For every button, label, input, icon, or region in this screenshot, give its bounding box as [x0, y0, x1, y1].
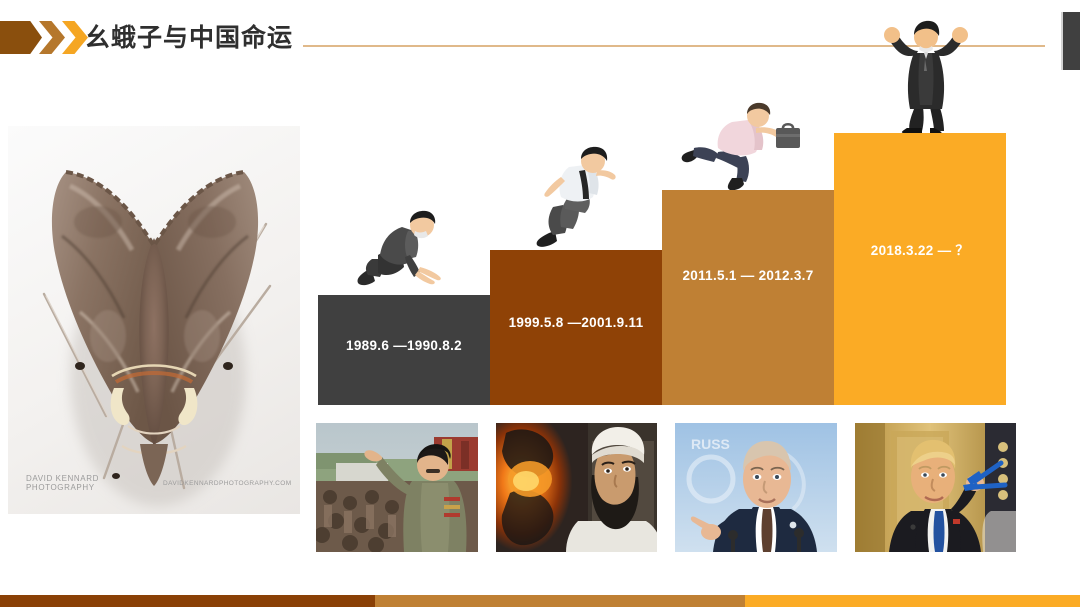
chart-bar: 1999.5.8 —2001.9.11	[490, 250, 662, 405]
moth-illustration	[8, 126, 300, 514]
photo-saddam-hussein	[316, 423, 478, 552]
triple-chevron-icon	[0, 21, 88, 54]
photo-donald-trump	[855, 423, 1017, 552]
footer-segment	[375, 595, 745, 607]
photo-strip: RUSS	[316, 423, 1016, 552]
running-man-briefcase-figure	[680, 98, 802, 190]
chart-bar-label: 1999.5.8 —2001.9.11	[490, 315, 662, 330]
footer-accent-bars	[0, 595, 1080, 607]
corner-accent-tab	[1061, 12, 1080, 70]
photo-watermark-brand: DAVID KENNARD PHOTOGRAPHY	[26, 474, 99, 492]
photo-osama-bin-laden	[496, 423, 658, 552]
chart-bar-label: 1989.6 —1990.8.2	[318, 338, 490, 353]
footer-segment	[745, 595, 1080, 607]
crouching-businessman-figure	[348, 205, 452, 295]
svg-text:RUSS: RUSS	[691, 436, 730, 452]
page-title: 幺蛾子与中国命运	[85, 18, 293, 54]
chart-bar: 1989.6 —1990.8.2	[318, 295, 490, 405]
chart-bar: 2018.3.22 — ？	[834, 133, 1006, 405]
moth-photo: DAVID KENNARD PHOTOGRAPHY DAVIDKENNARDPH…	[8, 126, 300, 514]
title-divider	[303, 45, 1045, 47]
chart-bar-label: 2011.5.1 — 2012.3.7	[662, 268, 834, 283]
photo-watermark-url: DAVIDKENNARDPHOTOGRAPHY.COM	[163, 479, 292, 488]
chart-bar-label: 2018.3.22 — ？	[834, 239, 1006, 259]
photo-vladimir-putin: RUSS	[675, 423, 837, 552]
watermark-line-2: PHOTOGRAPHY	[26, 483, 99, 492]
chart-bar: 2011.5.1 — 2012.3.7	[662, 190, 834, 405]
staircase-bar-chart: 1989.6 —1990.8.2 1999.5.8 —2001.9.11 201…	[318, 60, 1008, 405]
chevron-block-icon	[0, 21, 42, 54]
chevron-arrow-icon	[39, 21, 65, 54]
watermark-line-1: DAVID KENNARD	[26, 474, 99, 483]
footer-segment	[0, 595, 375, 607]
climbing-man-figure	[523, 145, 631, 250]
